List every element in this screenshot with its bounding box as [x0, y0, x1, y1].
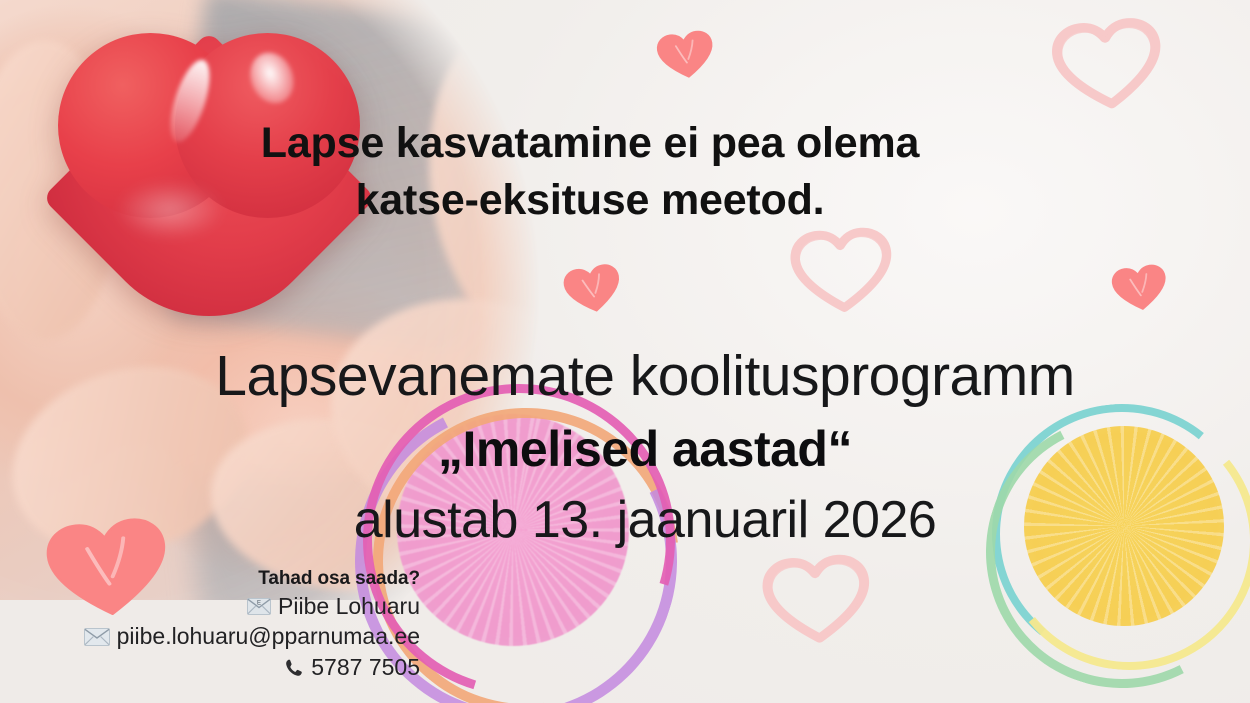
heart-solid-top-center	[651, 24, 720, 88]
heart-outline-top-right	[1047, 10, 1169, 121]
email-envelope-icon: E	[247, 598, 271, 615]
page-title: Lapse kasvatamine ei pea olema katse-eks…	[0, 115, 1180, 229]
contact-person-row: E Piibe Lohuaru	[0, 592, 420, 621]
contact-email-row[interactable]: piibe.lohuaru@pparnumaa.ee	[0, 622, 420, 651]
headline-line-1: Lapse kasvatamine ei pea olema	[0, 115, 1180, 172]
contact-phone-number: 5787 7505	[311, 653, 420, 682]
svg-text:E: E	[257, 601, 261, 607]
program-start-date: alustab 13. jaanuaril 2026	[0, 490, 1250, 550]
contact-person-name: Piibe Lohuaru	[278, 592, 420, 621]
contact-block: Tahad osa saada? E Piibe Lohuaru	[0, 568, 420, 682]
phone-icon	[284, 658, 304, 678]
headline-line-2: katse-eksituse meetod.	[0, 172, 1180, 229]
envelope-icon	[84, 628, 110, 646]
program-name: „Imelised aastad“	[0, 420, 1250, 478]
contact-title: Tahad osa saada?	[0, 568, 420, 590]
program-subtitle: Lapsevanemate koolitusprogramm	[0, 343, 1250, 409]
heart-solid-far-right	[1107, 258, 1174, 320]
contact-phone-row[interactable]: 5787 7505	[0, 653, 420, 682]
contact-email-address: piibe.lohuaru@pparnumaa.ee	[117, 622, 420, 651]
poster-canvas: Lapse kasvatamine ei pea olema katse-eks…	[0, 0, 1250, 703]
heart-outline-bottom-center	[759, 548, 876, 653]
heart-outline-mid-right	[787, 221, 897, 322]
heart-solid-mid-left	[558, 257, 629, 323]
